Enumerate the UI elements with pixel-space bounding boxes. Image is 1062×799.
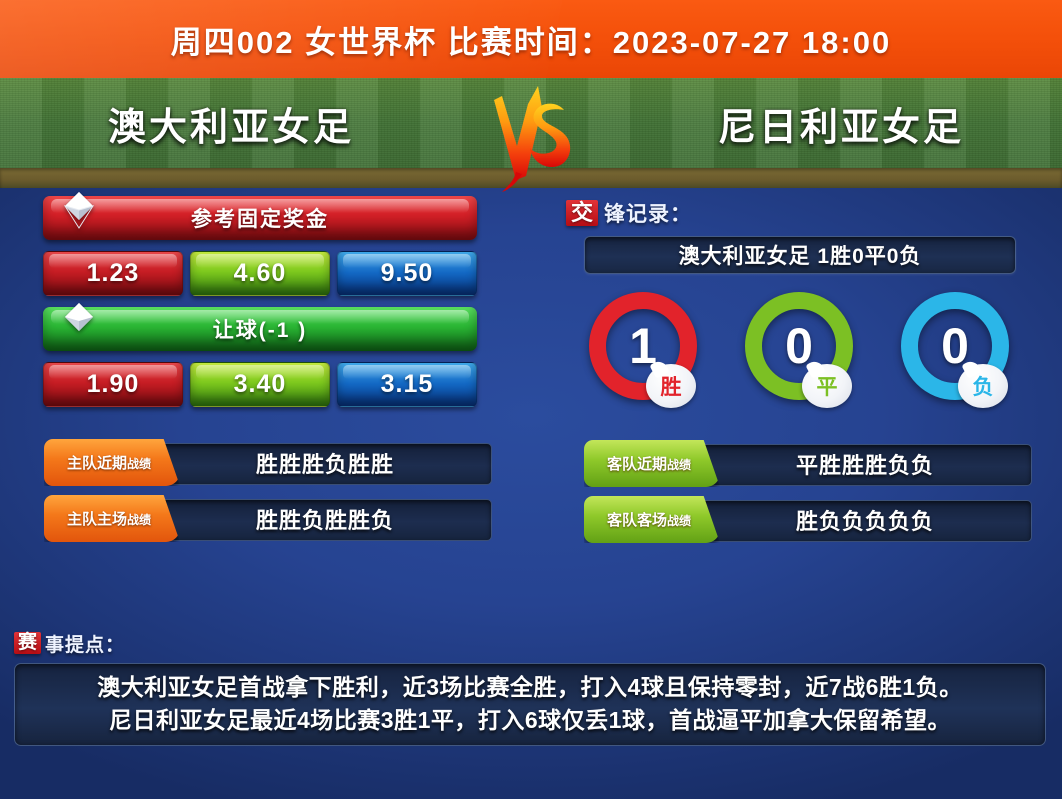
analysis-section: 赛 事提点： 澳大利亚女足首战拿下胜利，近3场比赛全胜，打入4球且保持零封，近7… — [14, 628, 1048, 746]
home-recent-form-tab: 主队近期战绩 — [44, 439, 180, 486]
away-recent-form-row: 平胜胜胜负负 客队近期战绩 — [570, 444, 1030, 484]
header-bar: 周四002 女世界杯 比赛时间：2023-07-27 18:00 — [0, 0, 1062, 78]
h2h-win-badge: 胜 — [646, 364, 696, 408]
analysis-line: 澳大利亚女足首战拿下胜利，近3场比赛全胜，打入4球且保持零封，近7战6胜1负。 — [15, 671, 1045, 704]
analysis-heading-text: 事提点： — [45, 630, 125, 657]
gem-icon — [57, 299, 101, 343]
fixed-odd-win[interactable]: 1.23 — [43, 251, 183, 296]
home-venue-form-tab-label: 主队主场 — [67, 511, 127, 528]
analysis-heading-chip: 赛 — [14, 632, 41, 655]
fixed-odd-draw[interactable]: 4.60 — [190, 251, 330, 296]
away-recent-form-value: 平胜胜胜负负 — [720, 444, 1010, 484]
home-recent-form-tab-label: 主队近期 — [67, 455, 127, 472]
away-venue-form-tab: 客队客场战绩 — [584, 496, 720, 543]
odds-panel: 参考固定奖金 1.23 4.60 9.50 让球(-1 ) 1.90 3.40 … — [0, 196, 520, 555]
analysis-line: 尼日利亚女足最近4场比赛3胜1平，打入6球仅丢1球，首战逼平加拿大保留希望。 — [15, 704, 1045, 737]
fixed-odd-draw-value: 4.60 — [234, 259, 287, 288]
analysis-box: 澳大利亚女足首战拿下胜利，近3场比赛全胜，打入4球且保持零封，近7战6胜1负。 … — [14, 663, 1046, 746]
home-recent-form-row: 胜胜胜负胜胜 主队近期战绩 — [30, 443, 490, 483]
fixed-odd-lose[interactable]: 9.50 — [337, 251, 477, 296]
fixed-odds-row: 1.23 4.60 9.50 — [43, 251, 477, 296]
handicap-odds-row: 1.90 3.40 3.15 — [43, 362, 477, 407]
h2h-ring-draw: 0 平 — [740, 292, 860, 422]
h2h-lose-badge-label: 负 — [973, 371, 994, 401]
home-venue-form-row: 胜胜负胜胜负 主队主场战绩 — [30, 499, 490, 539]
gem-icon — [57, 188, 101, 232]
away-recent-form-tab: 客队近期战绩 — [584, 440, 720, 487]
away-venue-form-tab-label: 客队客场 — [607, 512, 667, 529]
handicap-odd-win-value: 1.90 — [87, 370, 140, 399]
handicap-odd-draw-value: 3.40 — [234, 370, 287, 399]
h2h-draw-badge: 平 — [802, 364, 852, 408]
h2h-heading-text: 锋记录： — [604, 198, 692, 228]
fixed-odd-lose-value: 9.50 — [381, 259, 434, 288]
h2h-lose-badge: 负 — [958, 364, 1008, 408]
away-venue-form-value: 胜负负负负负 — [720, 500, 1010, 540]
vs-icon — [472, 84, 590, 194]
h2h-ring-win: 1 胜 — [584, 292, 704, 422]
h2h-rings: 1 胜 0 平 0 负 — [570, 292, 1030, 422]
home-venue-form-tab-sub: 战绩 — [127, 513, 151, 527]
fixed-odds-banner: 参考固定奖金 — [43, 196, 477, 240]
fixed-odd-win-value: 1.23 — [87, 259, 140, 288]
h2h-heading: 交 锋记录： — [566, 196, 1060, 230]
analysis-heading: 赛 事提点： — [14, 628, 1048, 658]
h2h-draw-badge-label: 平 — [817, 371, 838, 401]
h2h-summary-bar: 澳大利亚女足 1胜0平0负 — [584, 236, 1016, 274]
handicap-odd-win[interactable]: 1.90 — [43, 362, 183, 407]
home-recent-form-value: 胜胜胜负胜胜 — [180, 443, 470, 483]
home-venue-form-value: 胜胜负胜胜负 — [180, 499, 470, 539]
page-title: 周四002 女世界杯 比赛时间：2023-07-27 18:00 — [0, 0, 1062, 78]
away-venue-form-row: 胜负负负负负 客队客场战绩 — [570, 500, 1030, 540]
h2h-heading-chip: 交 — [566, 200, 598, 226]
handicap-odd-lose[interactable]: 3.15 — [337, 362, 477, 407]
home-venue-form-tab: 主队主场战绩 — [44, 495, 180, 542]
home-form-block: 胜胜胜负胜胜 主队近期战绩 胜胜负胜胜负 主队主场战绩 — [0, 443, 520, 539]
handicap-odd-lose-value: 3.15 — [381, 370, 434, 399]
home-recent-form-tab-sub: 战绩 — [127, 457, 151, 471]
h2h-panel: 交 锋记录： 澳大利亚女足 1胜0平0负 1 胜 0 平 0 负 — [540, 196, 1060, 556]
home-team-name: 澳大利亚女足 — [108, 96, 354, 151]
handicap-banner: 让球(-1 ) — [43, 307, 477, 351]
away-recent-form-tab-sub: 战绩 — [667, 458, 691, 472]
handicap-odd-draw[interactable]: 3.40 — [190, 362, 330, 407]
away-form-block: 平胜胜胜负负 客队近期战绩 胜负负负负负 客队客场战绩 — [540, 444, 1060, 540]
h2h-win-badge-label: 胜 — [661, 371, 682, 401]
fixed-odds-banner-label: 参考固定奖金 — [191, 203, 329, 233]
handicap-banner-label: 让球(-1 ) — [213, 314, 308, 344]
away-venue-form-tab-sub: 战绩 — [667, 514, 691, 528]
away-recent-form-tab-label: 客队近期 — [607, 456, 667, 473]
h2h-ring-lose: 0 负 — [896, 292, 1016, 422]
match-preview-infographic: 周四002 女世界杯 比赛时间：2023-07-27 18:00 澳大利亚女足 … — [0, 0, 1062, 799]
away-team-name: 尼日利亚女足 — [718, 96, 964, 151]
